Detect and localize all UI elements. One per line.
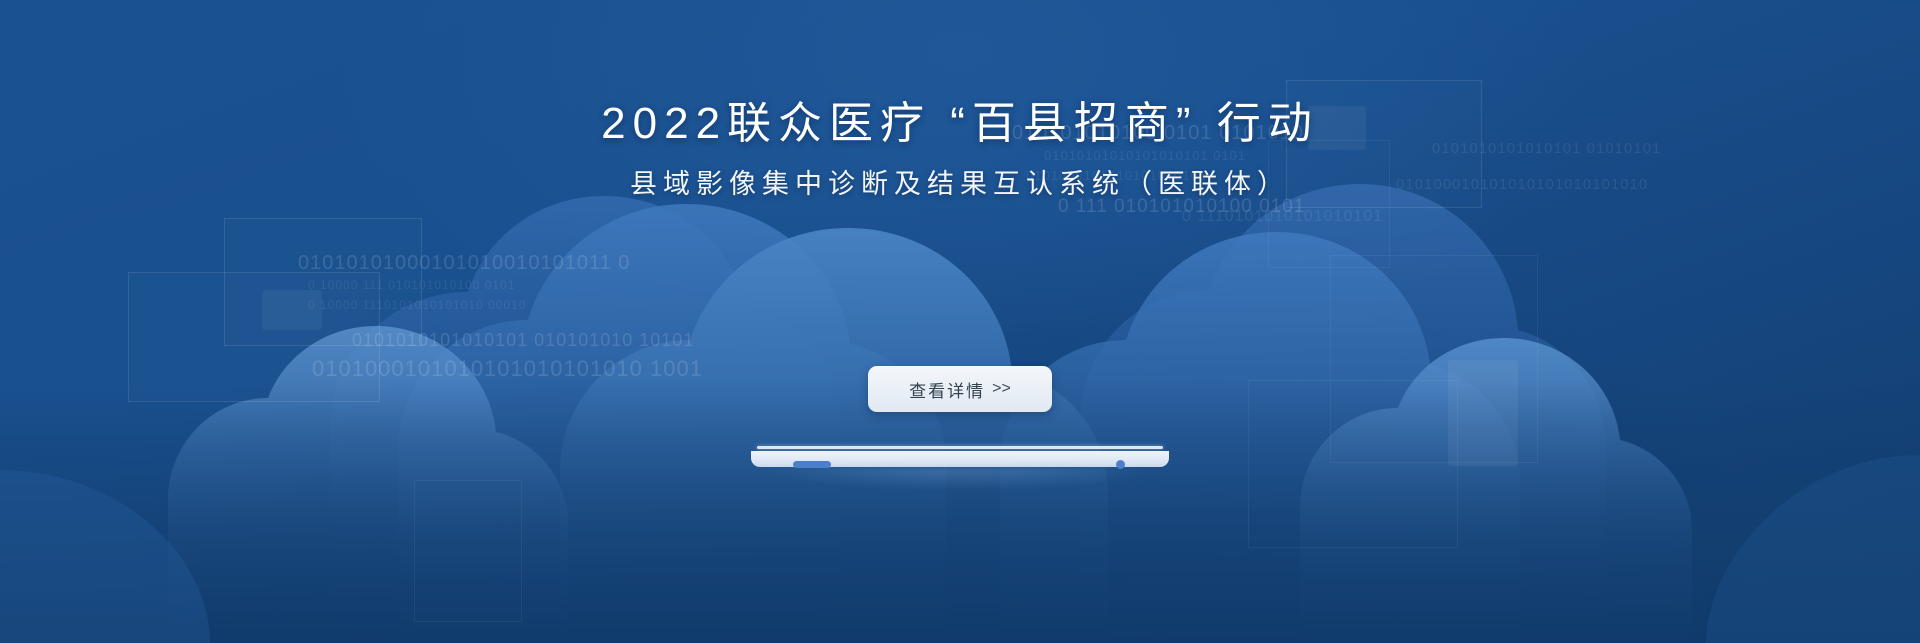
promo-banner: 01010101000101010010101011 0 0 10000 111… — [0, 0, 1920, 643]
double-chevron-right-icon: >> — [992, 380, 1011, 398]
cta-container: 查看详情 >> — [0, 366, 1920, 412]
device-screen-edge — [757, 446, 1163, 449]
view-details-label: 查看详情 — [909, 377, 985, 402]
device-speaker-icon — [793, 461, 831, 468]
device-body — [751, 451, 1169, 467]
decor-rect-left-inner — [224, 218, 422, 346]
cloud-bottom-fade — [0, 380, 1920, 643]
decor-rect-bottom-left — [414, 480, 522, 622]
decor-rect-right-mid — [1268, 140, 1390, 268]
decor-rect-left-filled — [262, 290, 322, 330]
device-reflection-glow — [763, 468, 1157, 490]
tablet-device-base — [751, 446, 1169, 470]
view-details-button[interactable]: 查看详情 >> — [868, 366, 1052, 412]
